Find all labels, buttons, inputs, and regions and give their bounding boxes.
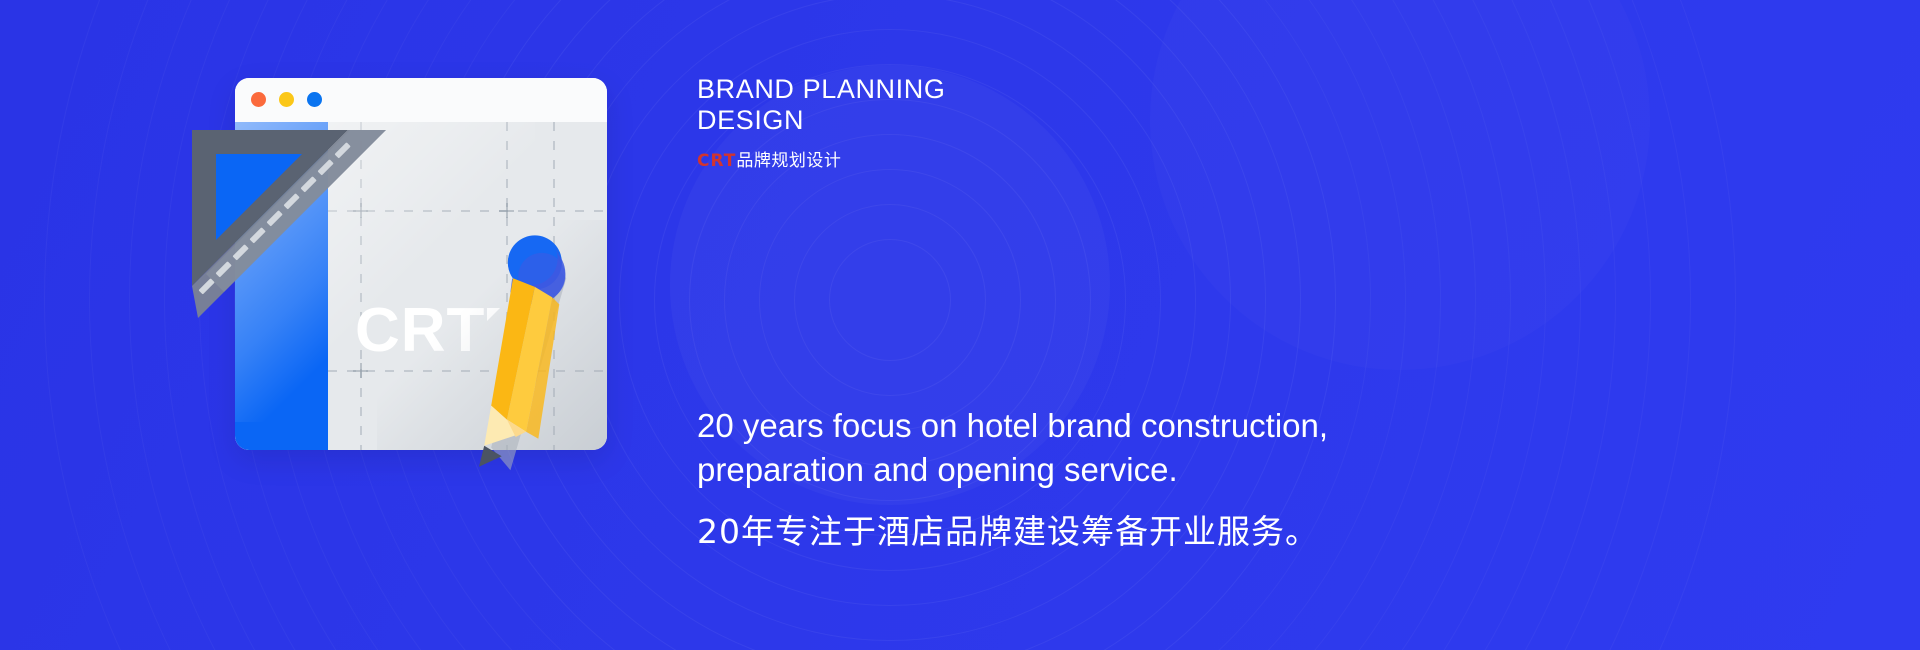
triangle-ruler-icon [190, 128, 390, 328]
headline-title: BRAND PLANNING DESIGN [697, 74, 1397, 136]
tagline-block: 20 years focus on hotel brand constructi… [697, 404, 1477, 553]
window-controls [251, 92, 322, 107]
guide-crosshair-3 [353, 363, 368, 378]
brand-code-label: CRT [697, 151, 736, 171]
close-dot[interactable] [251, 92, 266, 107]
brand-banner: CRT [0, 0, 1920, 650]
tagline-english: 20 years focus on hotel brand constructi… [697, 404, 1477, 491]
headline-subtitle: CRT品牌规划设计 [697, 146, 1397, 171]
headline-block: BRAND PLANNING DESIGN CRT品牌规划设计 [697, 74, 1397, 171]
pencil-icon [472, 230, 568, 480]
hero-illustration: CRT [190, 78, 680, 453]
tagline-chinese: 20年专注于酒店品牌建设筹备开业服务。 [697, 505, 1477, 553]
headline-subtitle-cn: 品牌规划设计 [736, 151, 841, 171]
minimize-dot[interactable] [279, 92, 294, 107]
maximize-dot[interactable] [307, 92, 322, 107]
guide-crosshair-2 [499, 203, 514, 218]
window-titlebar [235, 78, 607, 122]
